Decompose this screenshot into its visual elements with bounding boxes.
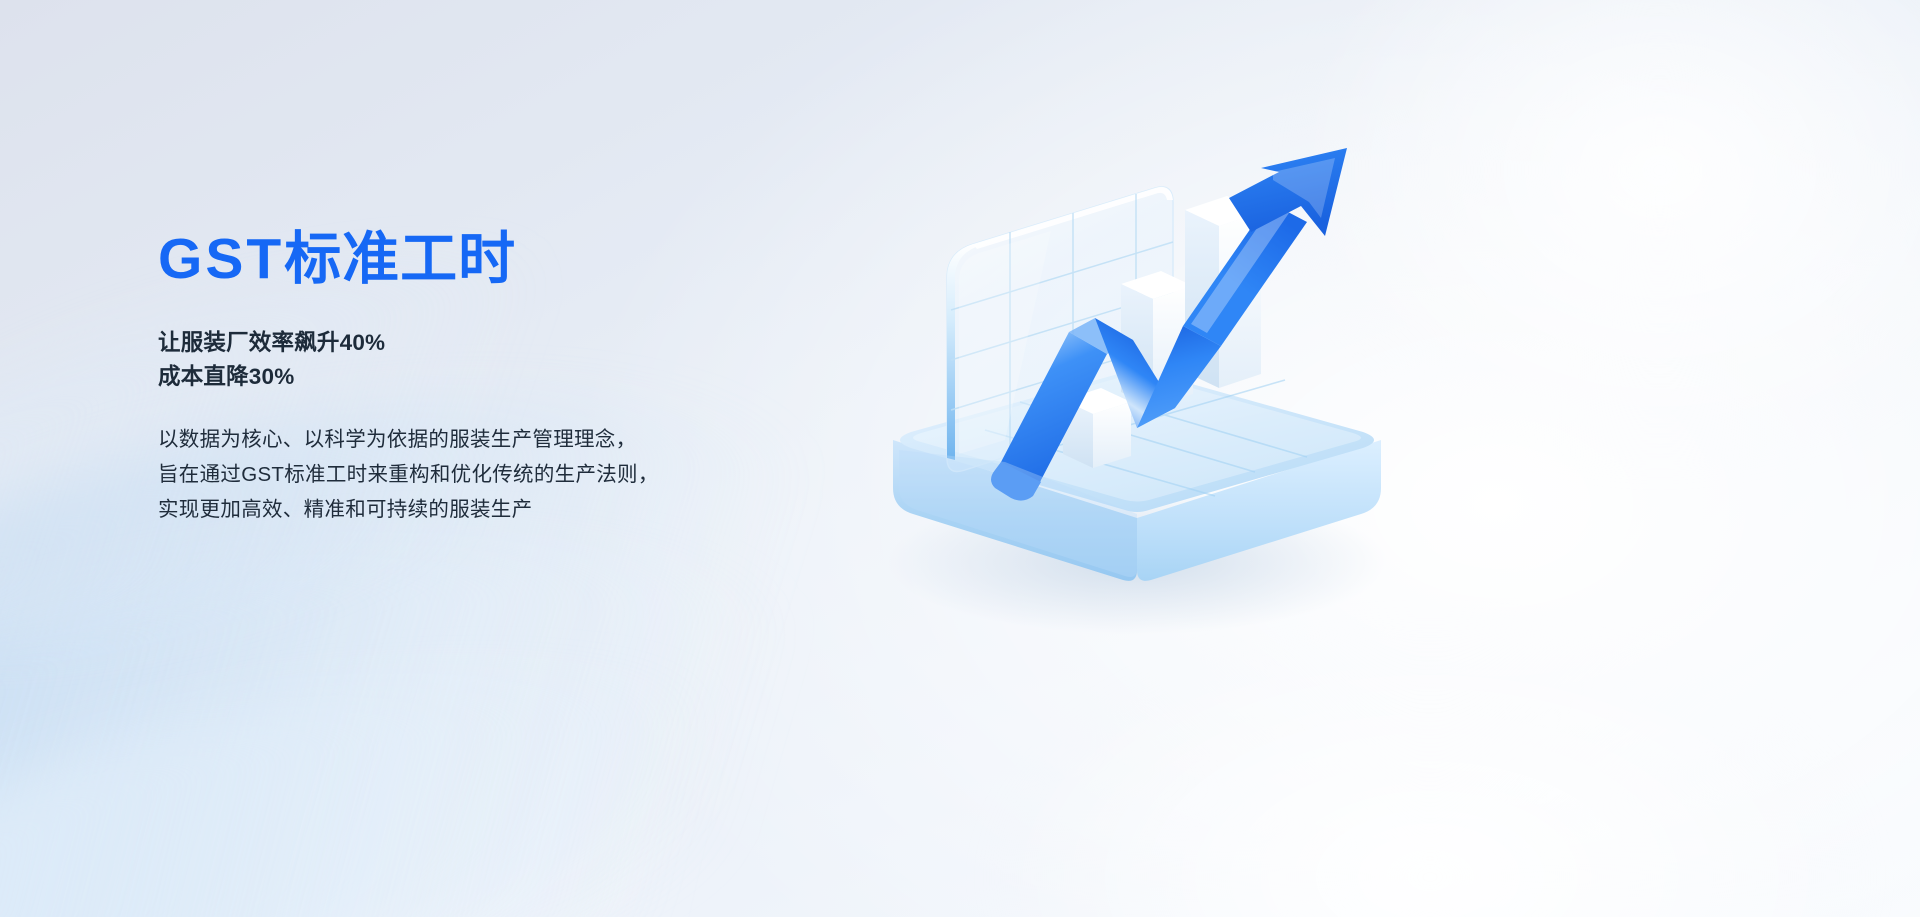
page-title-cjk: 标准工时 [284,227,516,291]
hero-subheadline: 让服装厂效率飙升40% 成本直降30% [158,326,818,394]
page-title: GST标准工时 [158,228,818,292]
hero-description: 以数据为核心、以科学为依据的服装生产管理理念， 旨在通过GST标准工时来重构和优… [158,422,818,527]
hero-banner: GST标准工时 让服装厂效率飙升40% 成本直降30% 以数据为核心、以科学为依… [0,0,1920,917]
growth-chart-illustration [855,110,1415,640]
background-glow-bottom-right [980,617,1880,917]
subheadline-line-2: 成本直降30% [158,360,818,394]
background-wave-4 [0,631,875,917]
description-line-2: 旨在通过GST标准工时来重构和优化传统的生产法则， [158,457,818,492]
background-wave-2 [0,473,877,917]
hero-copy-block: GST标准工时 让服装厂效率飙升40% 成本直降30% 以数据为核心、以科学为依… [158,228,818,527]
subheadline-line-1: 让服装厂效率飙升40% [158,326,818,360]
description-line-3: 实现更加高效、精准和可持续的服装生产 [158,492,818,527]
description-line-1: 以数据为核心、以科学为依据的服装生产管理理念， [158,422,818,457]
page-title-latin: GST [158,227,284,291]
